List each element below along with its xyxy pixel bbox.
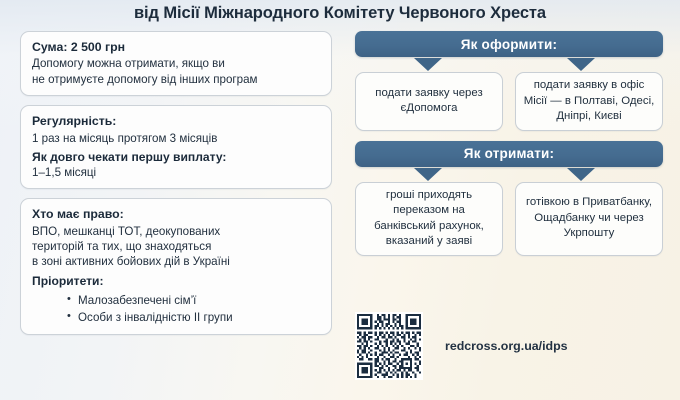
card-frequency-subbody: 1–1,5 місяці xyxy=(32,165,320,180)
arrow-down-icon xyxy=(414,58,442,71)
flow-box-receive-cash: готівкою в Приватбанку, Ощадбанку чи чер… xyxy=(515,182,663,256)
arrow-row-receive xyxy=(355,167,663,182)
arrow-down-icon xyxy=(567,168,595,181)
section-header-apply: Як оформити: xyxy=(355,31,663,57)
section-header-receive: Як отримати: xyxy=(355,141,663,167)
section-header-apply-label: Як оформити: xyxy=(461,37,558,52)
card-eligibility-line3: в зоні активних бойових дій в Україні xyxy=(32,254,320,269)
arrow-down-icon xyxy=(567,58,595,71)
card-amount: Сума: 2 500 грн Допомогу можна отримати,… xyxy=(20,31,332,96)
card-eligibility-line2: територій та тих, що знаходяться xyxy=(32,239,320,254)
footer: redcross.org.ua/idps xyxy=(355,312,665,380)
left-column: Сума: 2 500 грн Допомогу можна отримати,… xyxy=(20,31,332,344)
arrow-down-icon xyxy=(414,168,442,181)
card-frequency: Регулярність: 1 раз на місяць протягом 3… xyxy=(20,105,332,189)
page-title-text: від Місії Міжнародного Комітету Червоног… xyxy=(134,4,546,23)
section-header-receive-label: Як отримати: xyxy=(464,146,554,161)
qr-code-icon[interactable] xyxy=(355,312,423,380)
card-amount-line1: Допомогу можна отримати, якщо ви xyxy=(32,56,320,71)
card-amount-lead: Сума: 2 500 грн xyxy=(32,39,320,55)
card-eligibility-priorities-list: Малозабезпечені сім’ї Особи з інвалідніс… xyxy=(32,293,320,327)
card-eligibility-line1: ВПО, мешканці ТОТ, деокупованих xyxy=(32,224,320,239)
right-column: Як оформити: подати заявку через єДопомо… xyxy=(355,31,663,256)
page-title: від Місії Міжнародного Комітету Червоног… xyxy=(0,0,680,26)
card-frequency-subhead: Як довго чекати першу виплату: xyxy=(32,149,320,165)
flow-box-receive-bank: гроші приходять переказом на банківський… xyxy=(355,182,503,256)
spacer xyxy=(355,131,663,141)
card-eligibility-priorities-head: Пріоритети: xyxy=(32,273,320,289)
box-row-receive: гроші приходять переказом на банківський… xyxy=(355,182,663,256)
arrow-row-apply xyxy=(355,57,663,72)
card-frequency-lead: Регулярність: xyxy=(32,113,320,129)
flow-box-apply-online: подати заявку через єДопомога xyxy=(355,72,503,131)
list-item: Особи з інвалідністю ІІ групи xyxy=(78,310,320,327)
card-frequency-body: 1 раз на місяць протягом 3 місяців xyxy=(32,131,320,146)
flow-box-apply-office: подати заявку в офіс Місії — в Полтаві, … xyxy=(515,72,663,131)
card-eligibility-lead: Хто має право: xyxy=(32,206,320,222)
infographic-page: від Місії Міжнародного Комітету Червоног… xyxy=(0,0,680,400)
box-row-apply: подати заявку через єДопомога подати зая… xyxy=(355,72,663,131)
website-link[interactable]: redcross.org.ua/idps xyxy=(445,339,568,353)
card-eligibility: Хто має право: ВПО, мешканці ТОТ, деокуп… xyxy=(20,198,332,335)
list-item: Малозабезпечені сім’ї xyxy=(78,293,320,310)
card-amount-line2: не отримуєте допомогу від інших програм xyxy=(32,72,320,87)
qr-code-svg xyxy=(357,314,421,378)
